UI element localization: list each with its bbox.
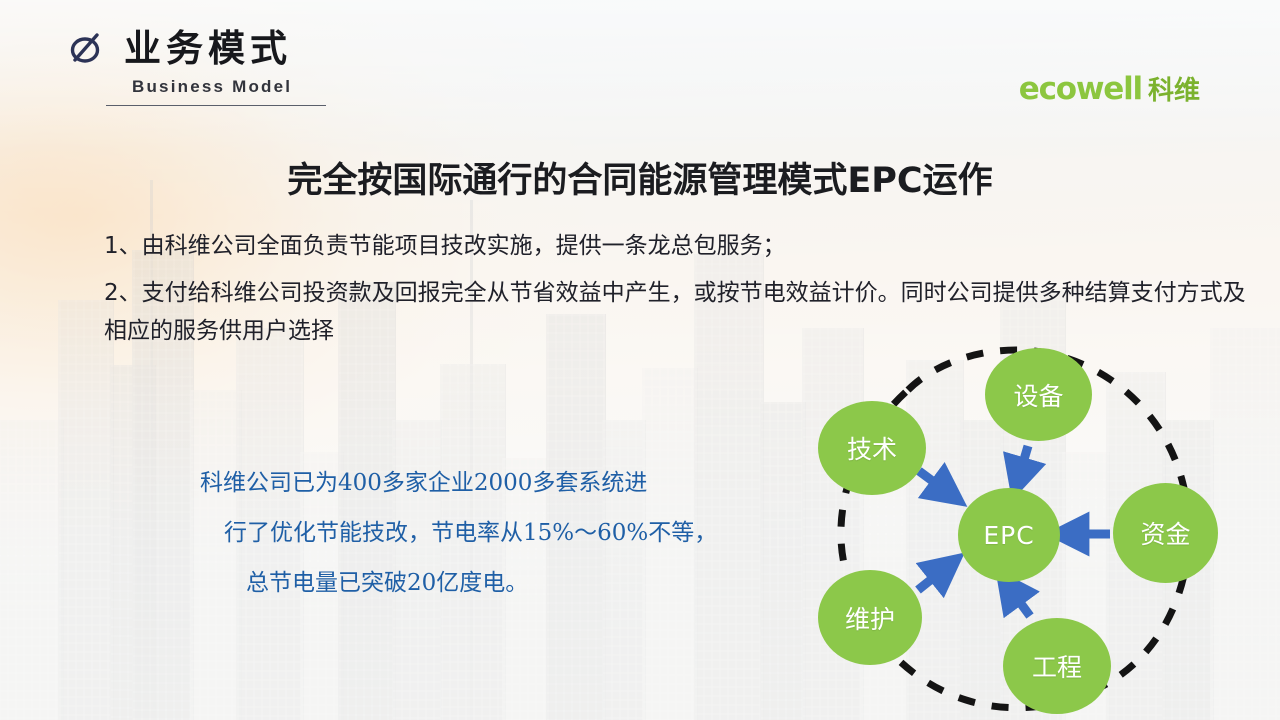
diagram-node-equipment[interactable]: 设备 (985, 348, 1092, 441)
slide-root: 业务模式 Business Model ecowell 科维 完全按国际通行的合… (0, 0, 1280, 720)
diagram-node-capital[interactable]: 资金 (1113, 483, 1218, 583)
arrow-engineering-to-epc (1008, 586, 1030, 616)
highlight-paragraph: 科维公司已为400多家企业2000多套系统进 行了优化节能技改，节电率从15%～… (200, 472, 720, 622)
null-slash-icon (66, 28, 106, 68)
headline: 完全按国际通行的合同能源管理模式EPC运作 (0, 152, 1280, 203)
arrow-technology-to-epc (919, 471, 950, 494)
node-label: 技术 (847, 430, 897, 466)
page-subtitle: Business Model (132, 77, 326, 97)
page-title: 业务模式 (124, 30, 292, 67)
diagram-node-technology[interactable]: 技术 (818, 401, 926, 495)
highlight-line: 总节电量已突破20亿度电。 (200, 572, 720, 595)
list-item: 1、由科维公司全面负责节能项目技改实施，提供一条龙总包服务； (104, 228, 1249, 265)
node-label: 工程 (1032, 648, 1082, 684)
arrow-maintenance-to-epc (918, 566, 948, 590)
node-label: 维护 (845, 600, 895, 636)
logo-text-en: ecowell (1019, 74, 1142, 105)
epc-cycle-diagram: 设备 技术 资金 维护 工程 EPC (790, 328, 1260, 720)
arrow-equipment-to-epc (1018, 446, 1028, 480)
header-divider (106, 105, 326, 106)
highlight-line: 行了优化节能技改，节电率从15%～60%不等， (200, 522, 720, 545)
highlight-line: 科维公司已为400多家企业2000多套系统进 (200, 472, 720, 495)
ecowell-logo: ecowell 科维 (1019, 74, 1200, 105)
diagram-node-engineering[interactable]: 工程 (1003, 618, 1111, 714)
node-label: 资金 (1140, 515, 1190, 551)
logo-text-cn: 科维 (1148, 78, 1200, 104)
diagram-node-epc-center[interactable]: EPC (958, 488, 1060, 582)
slide-header: 业务模式 Business Model (66, 28, 326, 106)
node-label: EPC (983, 521, 1034, 550)
diagram-node-maintenance[interactable]: 维护 (818, 570, 922, 665)
node-label: 设备 (1013, 377, 1063, 413)
